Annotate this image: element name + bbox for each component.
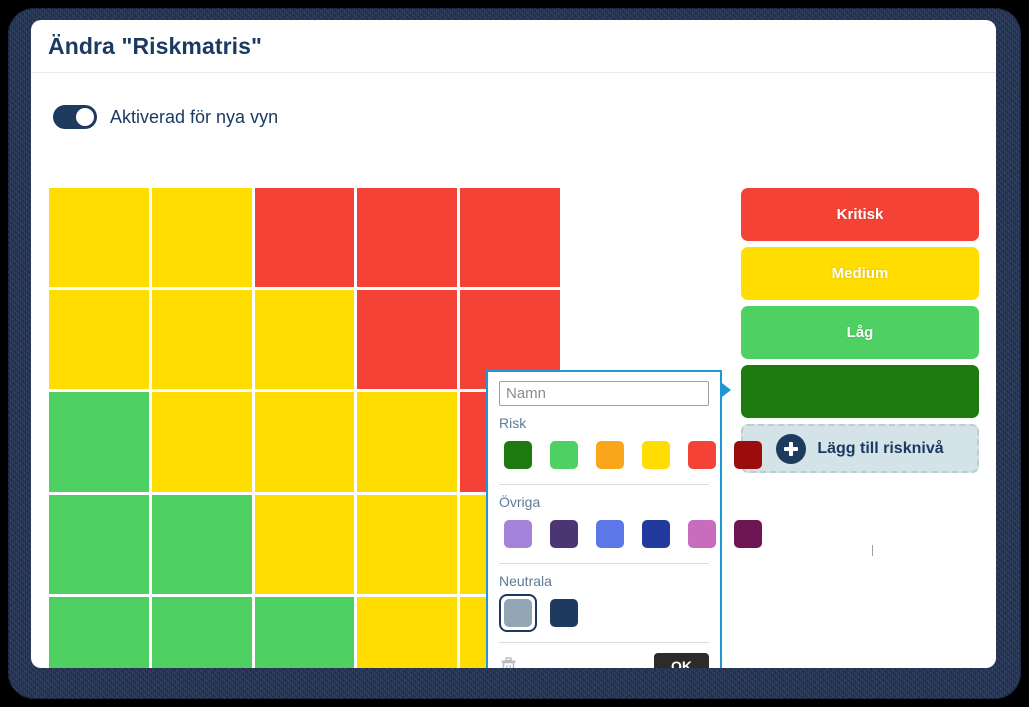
matrix-cell-r3-c4[interactable] xyxy=(357,392,457,491)
swatch-color-chip xyxy=(734,441,762,469)
swatch-ovriga-2[interactable] xyxy=(545,515,583,553)
matrix-cell-r2-c1[interactable] xyxy=(49,290,149,389)
matrix-cell-r4-c3[interactable] xyxy=(255,495,355,594)
swatch-neutrala-1[interactable] xyxy=(499,594,537,632)
plus-circle-icon xyxy=(776,434,806,464)
swatch-color-chip xyxy=(596,520,624,548)
matrix-cell-r3-c2[interactable] xyxy=(152,392,252,491)
risk-levels-list: KritiskMediumLåg xyxy=(741,188,979,418)
risk-levels-panel: KritiskMediumLåg Lägg till risknivå xyxy=(741,188,979,473)
risk-matrix-grid[interactable] xyxy=(49,188,560,668)
swatch-color-chip xyxy=(550,441,578,469)
text-caret-artifact xyxy=(872,545,873,556)
swatch-color-chip xyxy=(688,520,716,548)
swatch-row-ovriga[interactable] xyxy=(499,515,709,553)
dialog-body: Aktiverad för nya vyn KritiskMediumLåg L… xyxy=(31,73,996,667)
matrix-cell-r1-c1[interactable] xyxy=(49,188,149,287)
matrix-cell-r5-c3[interactable] xyxy=(255,597,355,668)
swatch-color-chip xyxy=(550,599,578,627)
swatch-neutrala-2[interactable] xyxy=(545,594,583,632)
popup-footer: OK xyxy=(499,650,709,668)
page-title: Ändra "Riskmatris" xyxy=(48,33,262,60)
matrix-cell-r1-c4[interactable] xyxy=(357,188,457,287)
risk-level-button-kritisk[interactable]: Kritisk xyxy=(741,188,979,241)
swatch-group-label-neutrala: Neutrala xyxy=(499,573,709,589)
divider-2 xyxy=(499,563,709,564)
toggle-knob xyxy=(76,108,94,126)
risk-level-button-4[interactable] xyxy=(741,365,979,418)
divider-1 xyxy=(499,484,709,485)
risk-level-button-medium[interactable]: Medium xyxy=(741,247,979,300)
matrix-cell-r1-c3[interactable] xyxy=(255,188,355,287)
swatch-ovriga-3[interactable] xyxy=(591,515,629,553)
enabled-toggle-label: Aktiverad för nya vyn xyxy=(110,107,278,128)
matrix-cell-r1-c5[interactable] xyxy=(460,188,560,287)
color-picker-popup: Risk Övriga Neutrala xyxy=(486,370,722,668)
popup-pointer-arrow xyxy=(722,383,731,397)
matrix-cell-r5-c2[interactable] xyxy=(152,597,252,668)
swatch-risk-4[interactable] xyxy=(637,436,675,474)
dialog-header: Ändra "Riskmatris" xyxy=(31,20,996,73)
edit-risk-matrix-dialog: Ändra "Riskmatris" Aktiverad för nya vyn… xyxy=(31,20,996,668)
swatch-row-risk[interactable] xyxy=(499,436,709,474)
swatch-ovriga-4[interactable] xyxy=(637,515,675,553)
swatch-risk-5[interactable] xyxy=(683,436,721,474)
matrix-cell-r1-c2[interactable] xyxy=(152,188,252,287)
swatch-color-chip xyxy=(504,599,532,627)
matrix-cell-r5-c4[interactable] xyxy=(357,597,457,668)
matrix-cell-r4-c1[interactable] xyxy=(49,495,149,594)
swatch-color-chip xyxy=(642,520,670,548)
swatch-row-neutrala[interactable] xyxy=(499,594,709,632)
matrix-cell-r2-c4[interactable] xyxy=(357,290,457,389)
risk-level-name-input[interactable] xyxy=(499,381,709,406)
matrix-cell-r2-c3[interactable] xyxy=(255,290,355,389)
matrix-cell-r4-c4[interactable] xyxy=(357,495,457,594)
swatch-color-chip xyxy=(504,441,532,469)
matrix-cell-r3-c1[interactable] xyxy=(49,392,149,491)
swatch-color-chip xyxy=(734,520,762,548)
matrix-cell-r3-c3[interactable] xyxy=(255,392,355,491)
swatch-color-chip xyxy=(642,441,670,469)
matrix-cell-r5-c1[interactable] xyxy=(49,597,149,668)
swatch-color-chip xyxy=(688,441,716,469)
swatch-ovriga-6[interactable] xyxy=(729,515,767,553)
add-risk-level-label: Lägg till risknivå xyxy=(817,440,943,458)
swatch-risk-2[interactable] xyxy=(545,436,583,474)
swatch-color-chip xyxy=(596,441,624,469)
enabled-toggle-row: Aktiverad för nya vyn xyxy=(53,105,278,129)
swatch-risk-6[interactable] xyxy=(729,436,767,474)
swatch-risk-1[interactable] xyxy=(499,436,537,474)
swatch-group-label-ovriga: Övriga xyxy=(499,494,709,510)
swatch-color-chip xyxy=(550,520,578,548)
swatch-color-chip xyxy=(504,520,532,548)
swatch-ovriga-5[interactable] xyxy=(683,515,721,553)
screen: Ändra "Riskmatris" Aktiverad för nya vyn… xyxy=(0,0,1029,707)
add-risk-level-button[interactable]: Lägg till risknivå xyxy=(741,424,979,473)
matrix-cell-r2-c2[interactable] xyxy=(152,290,252,389)
swatch-ovriga-1[interactable] xyxy=(499,515,537,553)
divider-3 xyxy=(499,642,709,643)
swatch-group-label-risk: Risk xyxy=(499,415,709,431)
swatch-risk-3[interactable] xyxy=(591,436,629,474)
matrix-cell-r4-c2[interactable] xyxy=(152,495,252,594)
ok-button[interactable]: OK xyxy=(654,653,709,668)
enabled-toggle-switch[interactable] xyxy=(53,105,97,129)
risk-level-button-låg[interactable]: Låg xyxy=(741,306,979,359)
trash-icon[interactable] xyxy=(499,656,518,669)
